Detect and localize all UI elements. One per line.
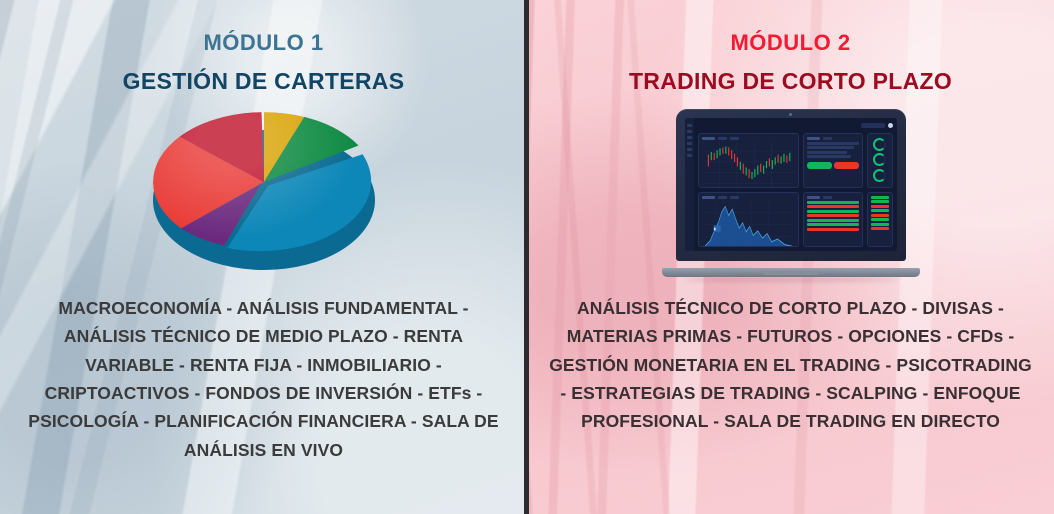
sidebar-icon-6 bbox=[687, 154, 692, 157]
candlestick-chart-panel bbox=[698, 133, 799, 188]
module-1-title: GESTIÓN DE CARTERAS bbox=[123, 68, 405, 95]
laptop-screen bbox=[685, 118, 897, 251]
dashboard-sidebar bbox=[685, 118, 694, 251]
area-chart-panel bbox=[698, 192, 799, 247]
sidebar-icon-4 bbox=[687, 142, 692, 145]
quotes-table-panel bbox=[803, 192, 863, 247]
sidebar-icon-3 bbox=[687, 136, 692, 139]
panel-divider bbox=[524, 0, 529, 514]
module-1-description: MACROECONOMÍA - ANÁLISIS FUNDAMENTAL - A… bbox=[0, 294, 527, 464]
laptop-lid bbox=[676, 109, 906, 261]
watchlist-panel bbox=[867, 192, 893, 247]
laptop-shadow bbox=[684, 277, 898, 282]
sidebar-icon-1 bbox=[687, 124, 692, 127]
sell-button[interactable] bbox=[834, 162, 859, 169]
sidebar-icon-2 bbox=[687, 130, 692, 133]
gauge-1 bbox=[873, 138, 886, 151]
gauge-2 bbox=[873, 153, 886, 166]
area-chart bbox=[702, 201, 795, 247]
webcam-icon bbox=[789, 113, 792, 116]
module-2-title: TRADING DE CORTO PLAZO bbox=[629, 68, 952, 95]
candlestick-chart bbox=[702, 142, 795, 188]
module-1-media bbox=[0, 99, 527, 294]
pie-chart-face bbox=[153, 112, 375, 252]
gauges-panel bbox=[867, 133, 893, 188]
sidebar-icon-5 bbox=[687, 148, 692, 151]
module-2-media bbox=[527, 99, 1054, 294]
pie-chart-svg bbox=[153, 112, 375, 252]
gauge-3 bbox=[873, 169, 886, 182]
topbar-search-field bbox=[861, 123, 885, 128]
laptop-base-notch bbox=[762, 271, 820, 275]
module-2-kicker: MÓDULO 2 bbox=[730, 30, 850, 56]
avatar bbox=[888, 123, 893, 128]
buy-button[interactable] bbox=[807, 162, 832, 169]
module-panel-1: MÓDULO 1 GESTIÓN DE CARTERAS bbox=[0, 0, 527, 514]
module-1-kicker: MÓDULO 1 bbox=[203, 30, 323, 56]
laptop-trading-dashboard bbox=[662, 109, 920, 285]
module-panel-2: MÓDULO 2 TRADING DE CORTO PLAZO bbox=[527, 0, 1054, 514]
module-2-description: ANÁLISIS TÉCNICO DE CORTO PLAZO - DIVISA… bbox=[527, 294, 1054, 436]
module-comparison-board: MÓDULO 1 GESTIÓN DE CARTERAS bbox=[0, 0, 1054, 514]
order-ticket-panel bbox=[803, 133, 863, 188]
dashboard-topbar bbox=[698, 122, 893, 129]
pie-chart-3d bbox=[153, 112, 375, 282]
